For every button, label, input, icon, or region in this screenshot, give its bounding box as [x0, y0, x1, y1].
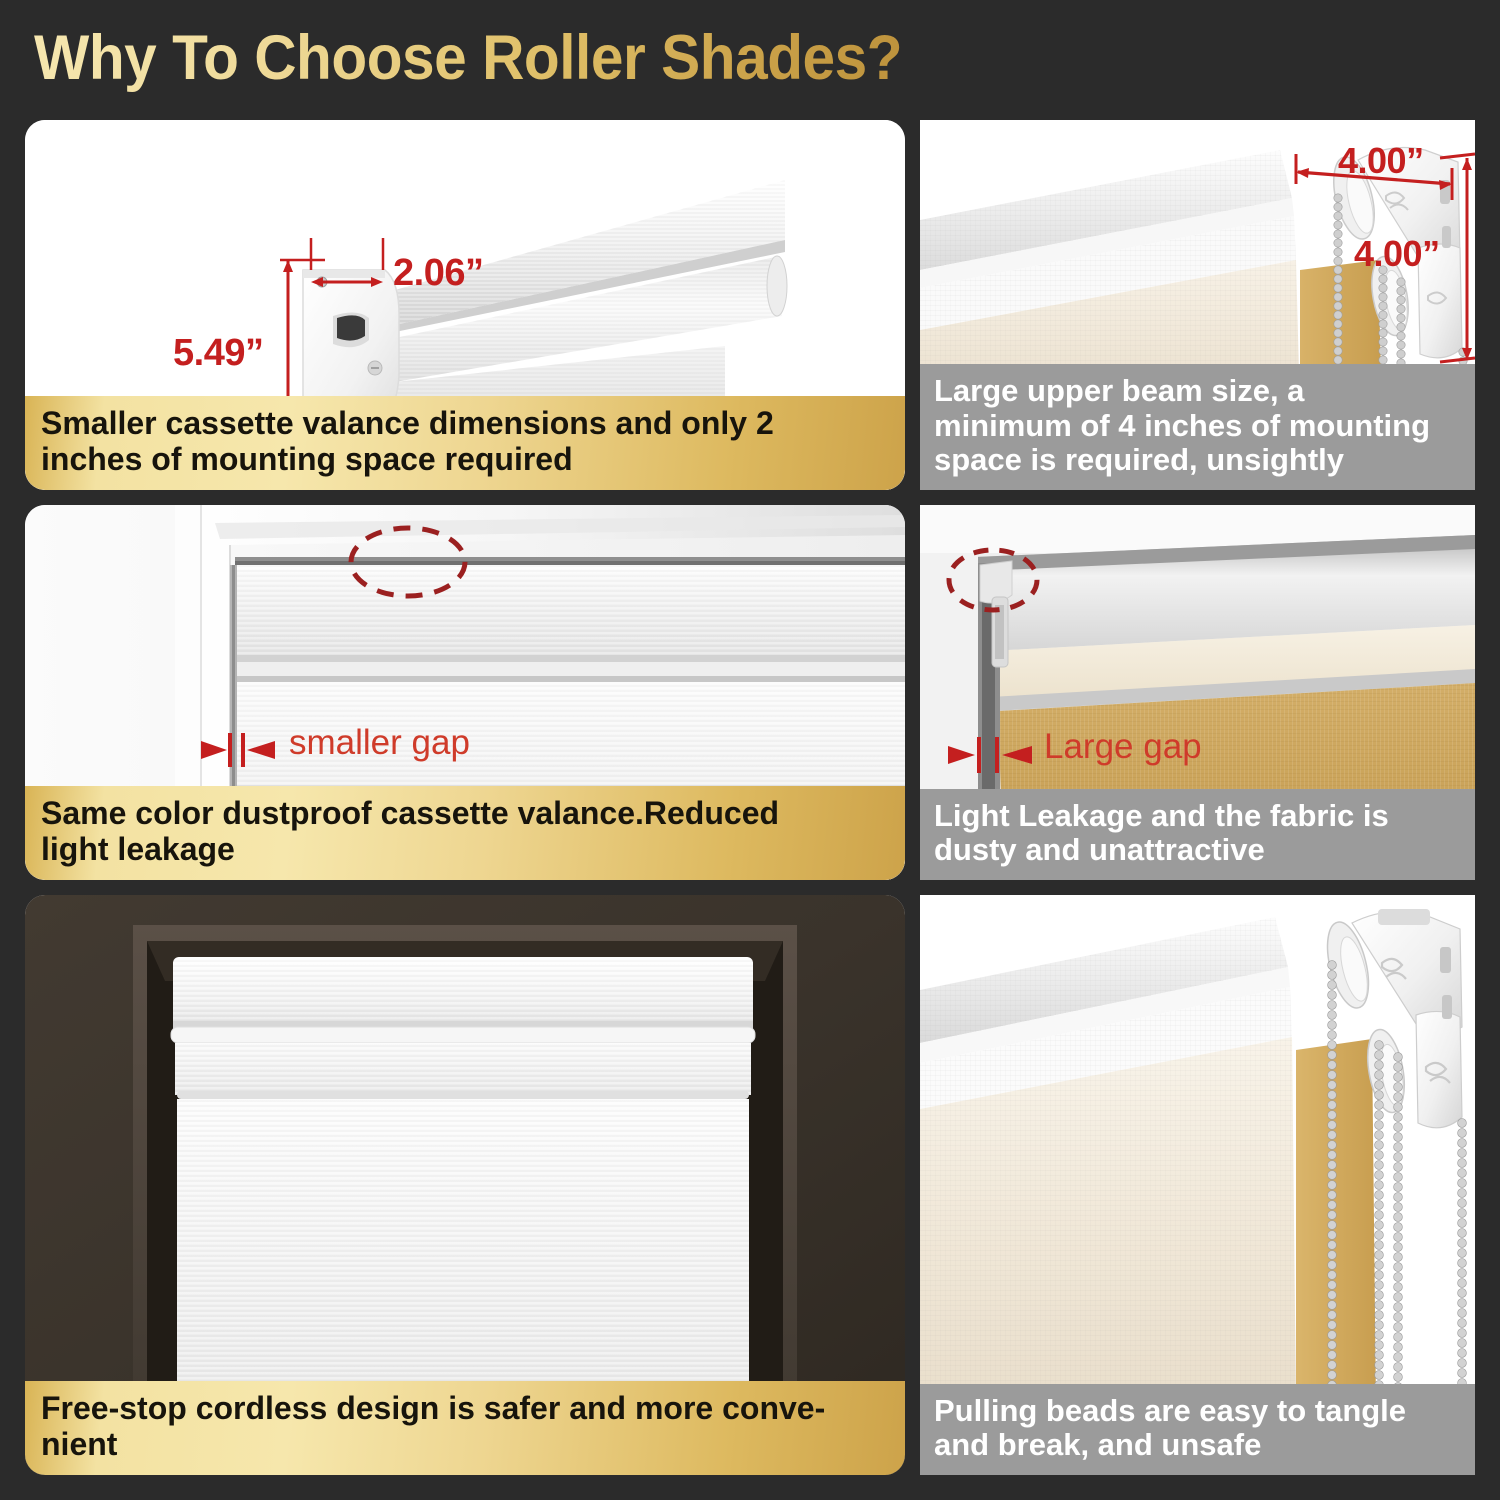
caption-line: space is required, unsightly — [934, 443, 1461, 478]
dimension-height-label: 5.49” — [173, 332, 263, 375]
caption-line: and break, and unsafe — [934, 1428, 1461, 1463]
dimension-width-label: 4.00” — [1338, 140, 1424, 182]
panel-caption: Free-stop cordless design is safer and m… — [25, 1381, 905, 1475]
panel-caption: Light Leakage and the fabric is dusty an… — [920, 789, 1475, 880]
caption-line: nient — [41, 1427, 891, 1463]
comparison-grid: 2.06” 5.49” Smaller cassette valance dim… — [25, 120, 1475, 1475]
caption-line: inches of mounting space required — [41, 442, 891, 478]
caption-line: Light Leakage and the fabric is — [934, 799, 1461, 834]
caption-line: Large upper beam size, a — [934, 374, 1461, 409]
caption-line: dusty and unattractive — [934, 833, 1461, 868]
panel-valance-dimensions: 2.06” 5.49” Smaller cassette valance dim… — [25, 120, 905, 490]
panel-cordless-design: Free-stop cordless design is safer and m… — [25, 895, 905, 1475]
caption-line: minimum of 4 inches of mounting — [934, 409, 1461, 444]
panel-smaller-gap: smaller gap Same color dustproof cassett… — [25, 505, 905, 880]
panel-pulling-beads: Pulling beads are easy to tangle and bre… — [920, 895, 1475, 1475]
panel-upper-beam-size: 4.00” 4.00” Large upper beam size, a min… — [920, 120, 1475, 490]
panel-light-leakage: Large gap Light Leakage and the fabric i… — [920, 505, 1475, 880]
page-title: Why To Choose Roller Shades? — [34, 22, 902, 94]
panel-caption: Smaller cassette valance dimensions and … — [25, 396, 905, 490]
caption-line: Same color dustproof cassette valance.Re… — [41, 796, 891, 832]
panel-caption: Same color dustproof cassette valance.Re… — [25, 786, 905, 880]
caption-line: Pulling beads are easy to tangle — [934, 1394, 1461, 1429]
gap-annotation-label: smaller gap — [289, 723, 470, 763]
panel-caption: Large upper beam size, a minimum of 4 in… — [920, 364, 1475, 490]
caption-line: Smaller cassette valance dimensions and … — [41, 406, 891, 442]
dimension-height-label: 4.00” — [1354, 233, 1440, 275]
dimension-width-label: 2.06” — [393, 252, 483, 295]
caption-line: light leakage — [41, 832, 891, 868]
panel-caption: Pulling beads are easy to tangle and bre… — [920, 1384, 1475, 1475]
gap-annotation-label: Large gap — [1044, 727, 1202, 767]
caption-line: Free-stop cordless design is safer and m… — [41, 1391, 891, 1427]
